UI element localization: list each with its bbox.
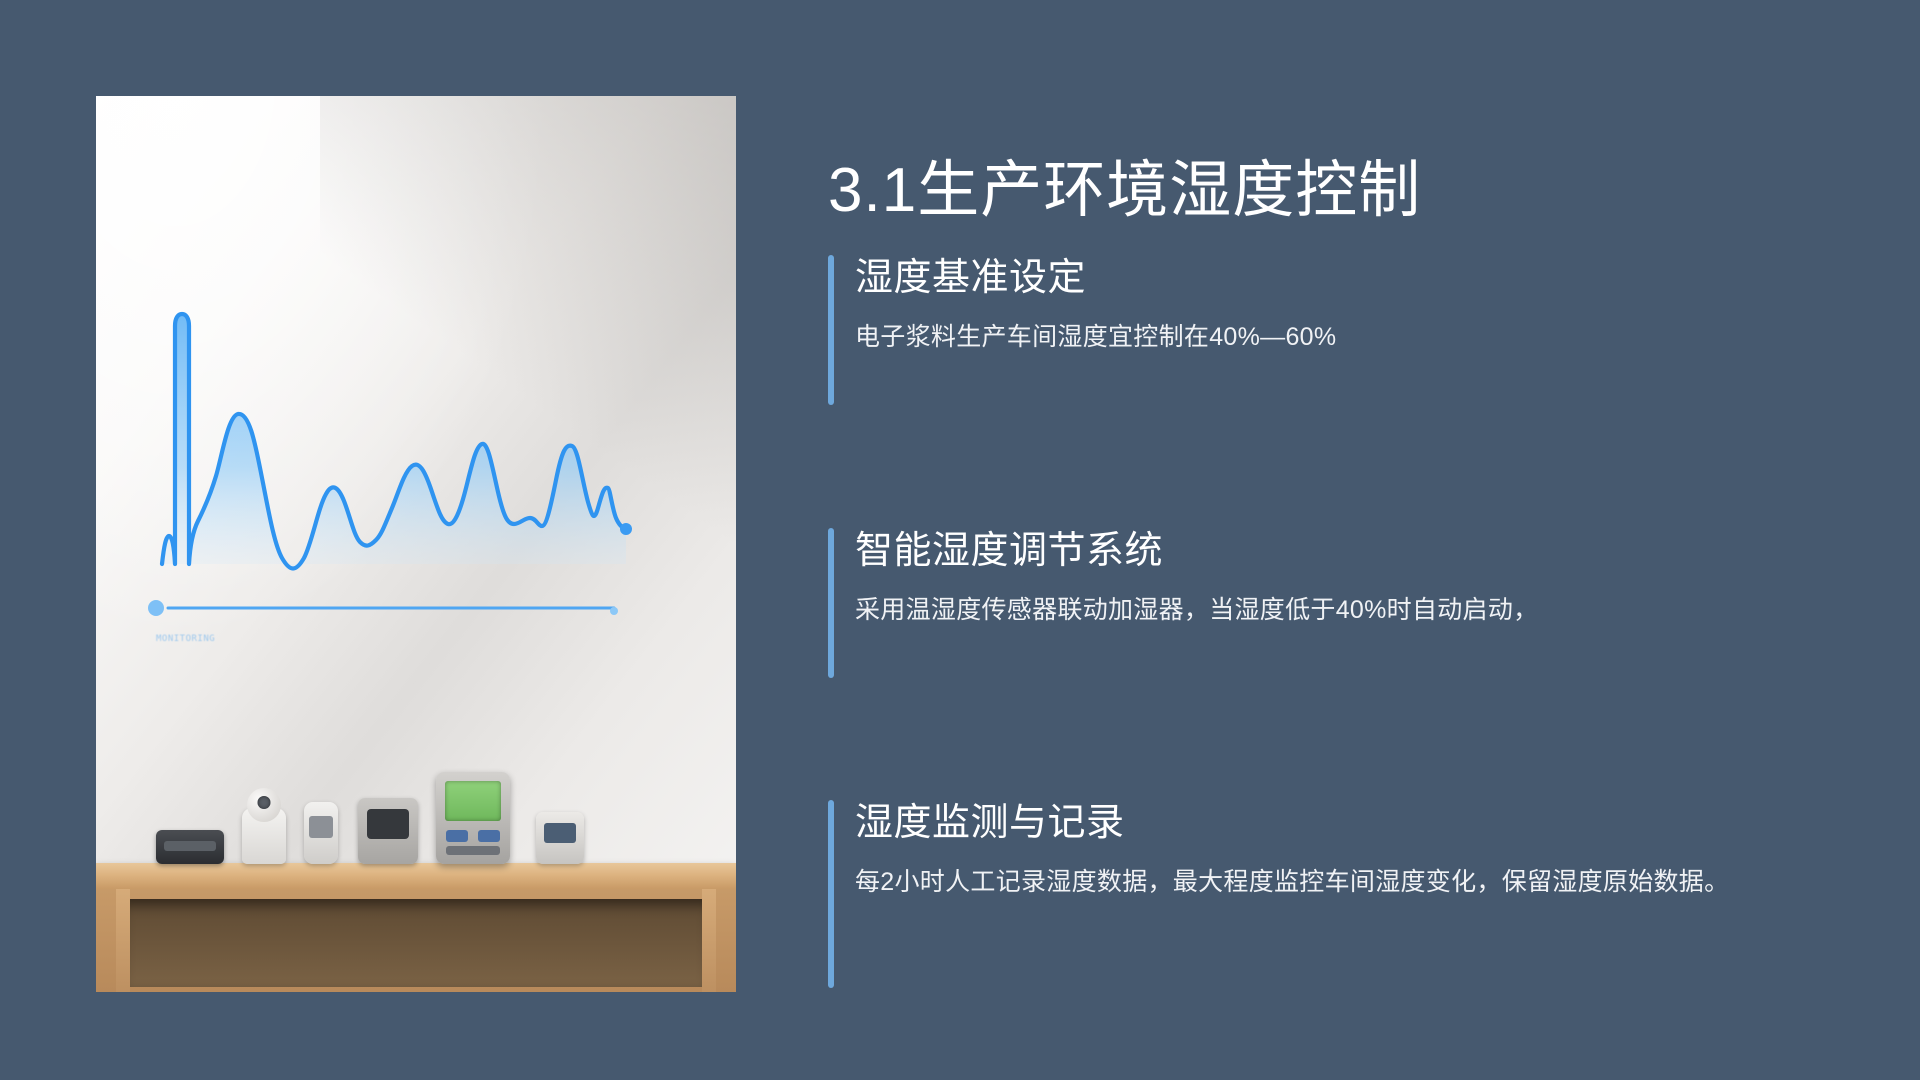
page-title: 3.1生产环境湿度控制 bbox=[828, 139, 1421, 229]
section-accent-bar bbox=[828, 255, 834, 405]
section-monitoring-and-record: 湿度监测与记录 每2小时人工记录湿度数据，最大程度监控车间湿度变化，保留湿度原始… bbox=[828, 800, 1845, 988]
shelf-leg-left bbox=[116, 889, 130, 992]
chart-axis-end-dot bbox=[610, 607, 618, 615]
content-column: 3.1生产环境湿度控制 湿度基准设定 电子浆料生产车间湿度宜控制在40%—60%… bbox=[828, 0, 1848, 1080]
controller-lcd-screen bbox=[445, 781, 501, 821]
chart-end-point bbox=[620, 523, 632, 535]
section-accent-bar bbox=[828, 800, 834, 988]
section-heading: 湿度监测与记录 bbox=[855, 800, 1845, 848]
device-white-slim-monitor bbox=[304, 802, 338, 864]
section-body: 采用温湿度传感器联动加湿器，当湿度低于40%时自动启动， bbox=[855, 590, 1845, 631]
device-blue-screen-sensor bbox=[536, 812, 584, 864]
slide-root: MONITORING 3.1生产环境湿度控制 湿度基准设定 bbox=[0, 0, 1920, 1080]
humidity-area-chart bbox=[132, 296, 632, 626]
device-green-screen-controller bbox=[436, 772, 510, 864]
controller-button-1 bbox=[446, 830, 468, 842]
wooden-shelf bbox=[96, 777, 736, 992]
shelf-inner-cavity bbox=[122, 899, 710, 987]
controller-button-2 bbox=[478, 830, 500, 842]
device-white-round-camera bbox=[242, 808, 286, 864]
shelf-leg-right bbox=[702, 889, 716, 992]
section-humidity-baseline: 湿度基准设定 电子浆料生产车间湿度宜控制在40%—60% bbox=[828, 255, 1845, 405]
section-body: 电子浆料生产车间湿度宜控制在40%—60% bbox=[855, 317, 1845, 358]
chart-caption-text: MONITORING bbox=[156, 634, 215, 644]
section-accent-bar bbox=[828, 528, 834, 678]
device-black-sensor-bar bbox=[156, 830, 224, 864]
section-heading: 湿度基准设定 bbox=[855, 255, 1845, 303]
illustration-panel: MONITORING bbox=[96, 96, 736, 992]
shelf-top-surface bbox=[96, 863, 736, 889]
device-grey-display-unit bbox=[358, 798, 418, 864]
controller-button-3 bbox=[446, 846, 500, 855]
section-body: 每2小时人工记录湿度数据，最大程度监控车间湿度变化，保留湿度原始数据。 bbox=[855, 862, 1845, 903]
section-heading: 智能湿度调节系统 bbox=[855, 528, 1845, 576]
section-smart-humidity-system: 智能湿度调节系统 采用温湿度传感器联动加湿器，当湿度低于40%时自动启动， bbox=[828, 528, 1845, 678]
chart-area-fill bbox=[162, 314, 626, 569]
chart-axis-start-dot bbox=[148, 600, 164, 616]
chart-svg bbox=[132, 296, 632, 626]
